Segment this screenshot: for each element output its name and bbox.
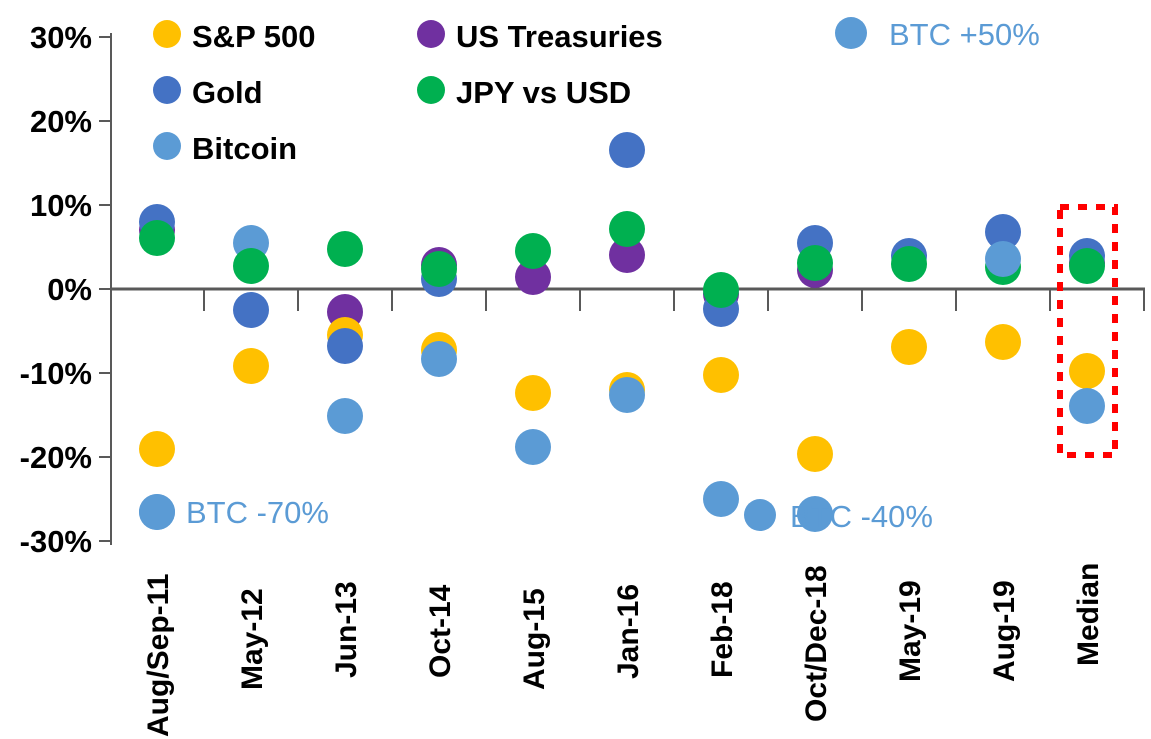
x-tick-label-aug-sep-11: Aug/Sep-11: [142, 574, 175, 737]
data-column-jan-16: [609, 132, 645, 413]
x-tick-label-jun-13: Jun-13: [330, 581, 363, 678]
point-bitcoin: [327, 398, 363, 434]
x-tick-label-median: Median: [1072, 563, 1105, 666]
x-tick-label-may-19: May-19: [894, 580, 927, 682]
point-jpy-vs-usd: [233, 248, 269, 284]
point-jpy-vs-usd: [797, 245, 833, 281]
x-tick-label-aug-19: Aug-19: [988, 580, 1021, 682]
legend-label-gold: Gold: [192, 75, 263, 110]
point-jpy-vs-usd: [703, 272, 739, 308]
point-jpy-vs-usd: [139, 220, 175, 256]
point-sp500: [985, 324, 1021, 360]
y-tick-label-0: 0%: [47, 272, 92, 307]
x-tick-labels: Aug/Sep-11 May-12 Jun-13 Oct-14 Aug-15 J…: [142, 563, 1105, 737]
y-tick-label-neg20: -20%: [20, 440, 92, 475]
point-sp500: [233, 348, 269, 384]
point-gold: [233, 292, 269, 328]
data-column-aug-15: [515, 233, 551, 465]
annotation-label-btc-minus-40: BTC -40%: [790, 499, 933, 534]
data-column-aug-19: [985, 214, 1021, 360]
legend-marker-us-treasuries: [417, 20, 445, 48]
data-column-feb-18: [703, 272, 739, 517]
point-sp500: [139, 431, 175, 467]
data-column-may-12: [233, 225, 269, 384]
annotation-marker-btc-minus-40: [744, 499, 776, 531]
legend: S&P 500 Gold Bitcoin US Treasuries JPY v…: [153, 19, 663, 166]
legend-label-sp500: S&P 500: [192, 19, 316, 54]
point-sp500: [1069, 353, 1105, 389]
point-sp500: [515, 375, 551, 411]
x-tick-label-oct-14: Oct-14: [424, 584, 457, 678]
y-tick-label-neg30: -30%: [20, 524, 92, 559]
point-jpy-vs-usd: [515, 233, 551, 269]
annotation-label-btc-minus-70: BTC -70%: [186, 495, 329, 530]
x-tick-label-feb-18: Feb-18: [706, 581, 739, 678]
scatter-chart: 30% 20% 10% 0% -10% -20% -30%: [0, 0, 1151, 739]
point-jpy-vs-usd: [327, 231, 363, 267]
point-jpy-vs-usd: [1069, 248, 1105, 284]
y-tick-label-10: 10%: [30, 188, 92, 223]
point-gold: [327, 328, 363, 364]
data-column-may-19: [891, 238, 927, 365]
point-bitcoin: [421, 341, 457, 377]
legend-marker-bitcoin: [153, 132, 181, 160]
annotation-btc-minus-70: BTC -70%: [139, 494, 329, 530]
point-jpy-vs-usd: [421, 251, 457, 287]
y-tick-marks: [99, 37, 111, 541]
legend-label-bitcoin: Bitcoin: [192, 131, 297, 166]
point-sp500: [703, 357, 739, 393]
annotation-marker-btc-plus-50: [835, 17, 867, 49]
y-tick-label-neg10: -10%: [20, 356, 92, 391]
point-sp500: [797, 436, 833, 472]
point-bitcoin: [703, 481, 739, 517]
data-column-median: [1069, 238, 1105, 424]
point-bitcoin: [515, 429, 551, 465]
legend-marker-sp500: [153, 20, 181, 48]
annotation-btc-plus-50: BTC +50%: [835, 17, 1040, 52]
point-bitcoin: [1069, 388, 1105, 424]
legend-marker-jpy-vs-usd: [417, 76, 445, 104]
y-tick-label-20: 20%: [30, 104, 92, 139]
point-jpy-vs-usd: [891, 246, 927, 282]
legend-label-us-treasuries: US Treasuries: [456, 19, 663, 54]
data-column-jun-13: [327, 231, 363, 434]
point-gold: [609, 132, 645, 168]
data-column-aug-sep-11: [139, 204, 175, 530]
point-sp500: [891, 329, 927, 365]
x-tick-label-jan-16: Jan-16: [612, 584, 645, 679]
x-tick-label-may-12: May-12: [236, 588, 269, 690]
annotation-label-btc-plus-50: BTC +50%: [889, 17, 1040, 52]
legend-label-jpy-vs-usd: JPY vs USD: [456, 75, 631, 110]
annotation-btc-minus-40: BTC -40%: [744, 499, 933, 534]
data-column-oct-14: [421, 247, 457, 377]
point-bitcoin: [985, 241, 1021, 277]
point-jpy-vs-usd: [609, 211, 645, 247]
point-bitcoin: [609, 377, 645, 413]
x-tick-label-aug-15: Aug-15: [518, 588, 551, 690]
x-tick-label-oct-dec-18: Oct/Dec-18: [800, 565, 833, 722]
chart-root: 30% 20% 10% 0% -10% -20% -30%: [0, 0, 1151, 739]
y-tick-label-30: 30%: [30, 20, 92, 55]
data-column-oct-dec-18: [797, 225, 833, 532]
annotation-marker-btc-minus-70: [139, 494, 175, 530]
legend-marker-gold: [153, 76, 181, 104]
